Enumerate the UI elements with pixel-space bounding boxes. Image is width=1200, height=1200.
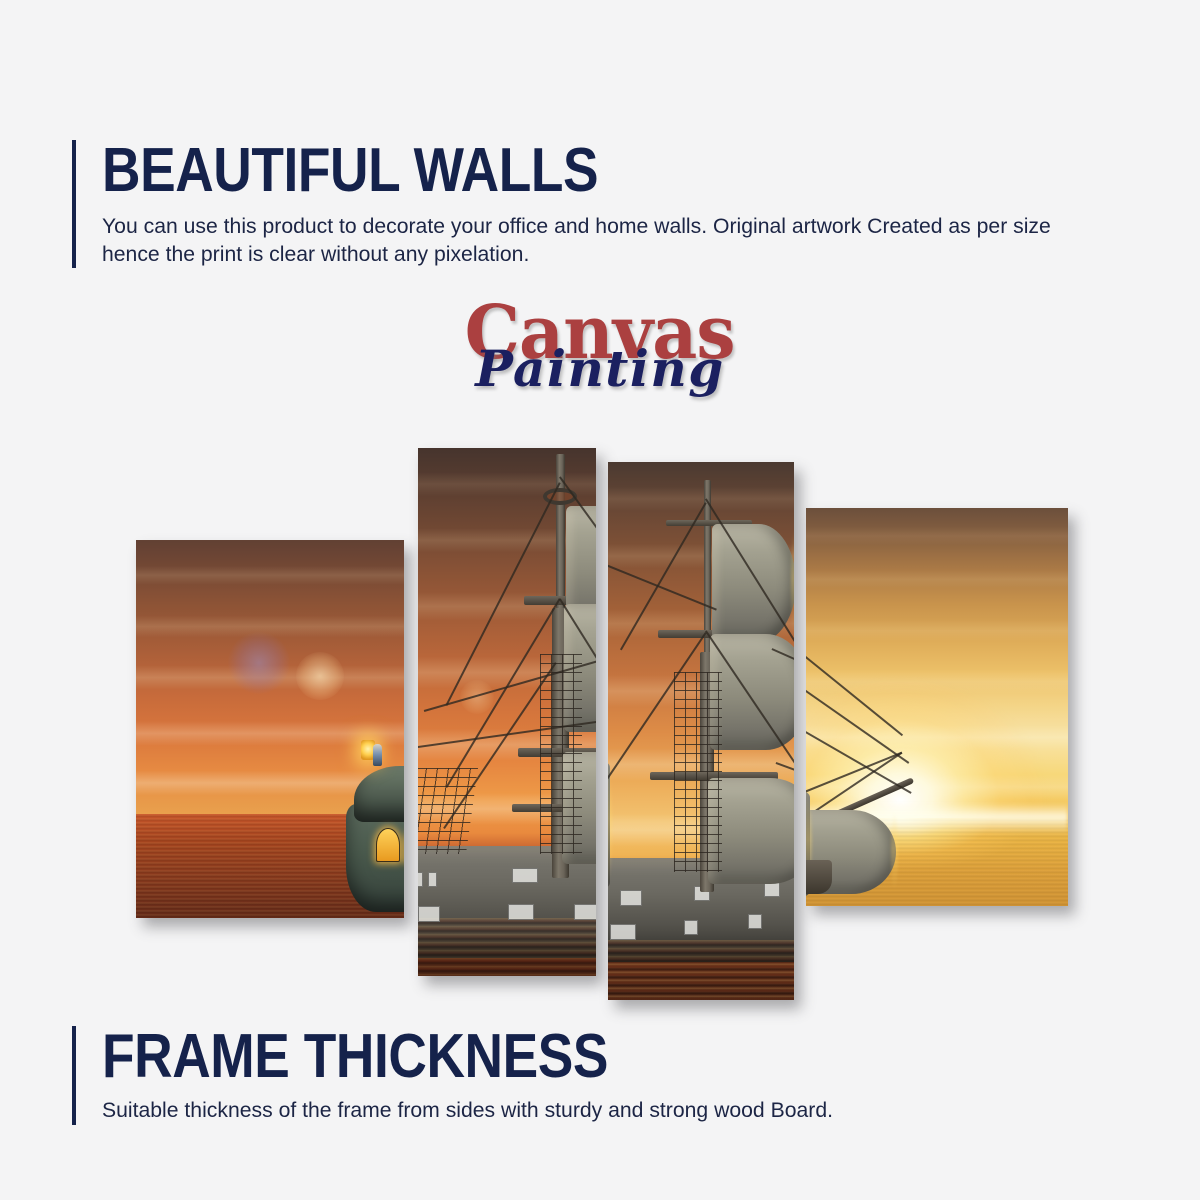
panel-3-artwork: [608, 462, 794, 1000]
logo-primary-text: Canvas: [465, 296, 735, 370]
panel-3-scene: [608, 462, 794, 1000]
gunport: [508, 904, 534, 920]
panel-4-artwork: [806, 508, 1068, 906]
panel-1-artwork: [136, 540, 404, 918]
canvas-panel-2-mainmast[interactable]: [418, 448, 596, 976]
logo-secondary-text: Painting: [0, 344, 1200, 394]
fore-topsail: [712, 524, 794, 642]
lens-flare-violet-icon: [228, 632, 290, 694]
canvas-panel-3-foremast[interactable]: [608, 462, 794, 1000]
feature-title: FRAME THICKNESS: [102, 1028, 962, 1085]
gunport: [512, 868, 538, 883]
feature-frame-thickness: FRAME THICKNESS Suitable thickness of th…: [72, 1026, 1102, 1125]
gunport: [418, 872, 423, 887]
canvas-panel-4-sunset[interactable]: [806, 508, 1068, 906]
feature-description: Suitable thickness of the frame from sid…: [102, 1097, 1072, 1125]
gunport: [764, 882, 780, 897]
feature-beautiful-walls: BEAUTIFUL WALLS You can use this product…: [72, 140, 1102, 268]
gunport: [610, 924, 636, 940]
accent-bar: [72, 1026, 76, 1125]
panel-4-scene: [806, 508, 1068, 906]
accent-bar: [72, 140, 76, 268]
ratline-net: [540, 654, 582, 854]
brand-logo: Canvas Painting: [0, 296, 1200, 426]
left-edge-sail-lower: [608, 762, 610, 888]
gunport: [684, 920, 698, 935]
panel-2-scene: [418, 448, 596, 976]
panel-1-scene: [136, 540, 404, 918]
feature-text-block: FRAME THICKNESS Suitable thickness of th…: [102, 1026, 1102, 1125]
gunport: [620, 890, 642, 906]
ratline-net: [674, 672, 722, 872]
cabin-window: [376, 828, 400, 862]
canvas-panel-1-stern[interactable]: [136, 540, 404, 918]
feature-description: You can use this product to decorate you…: [102, 213, 1072, 268]
sky-cloud-bands: [806, 508, 1068, 818]
bow-figurehead: [806, 860, 832, 894]
water-reflection: [608, 940, 794, 1000]
deck-figure: [373, 744, 382, 766]
feature-title: BEAUTIFUL WALLS: [102, 142, 962, 199]
panel-2-artwork: [418, 448, 596, 976]
lens-flare-warm-icon: [296, 652, 344, 700]
feature-text-block: BEAUTIFUL WALLS You can use this product…: [102, 140, 1102, 268]
gunport: [748, 914, 762, 929]
gunport: [428, 872, 437, 887]
water-reflection: [418, 918, 596, 976]
gunport: [418, 906, 440, 922]
gunport: [574, 904, 596, 920]
